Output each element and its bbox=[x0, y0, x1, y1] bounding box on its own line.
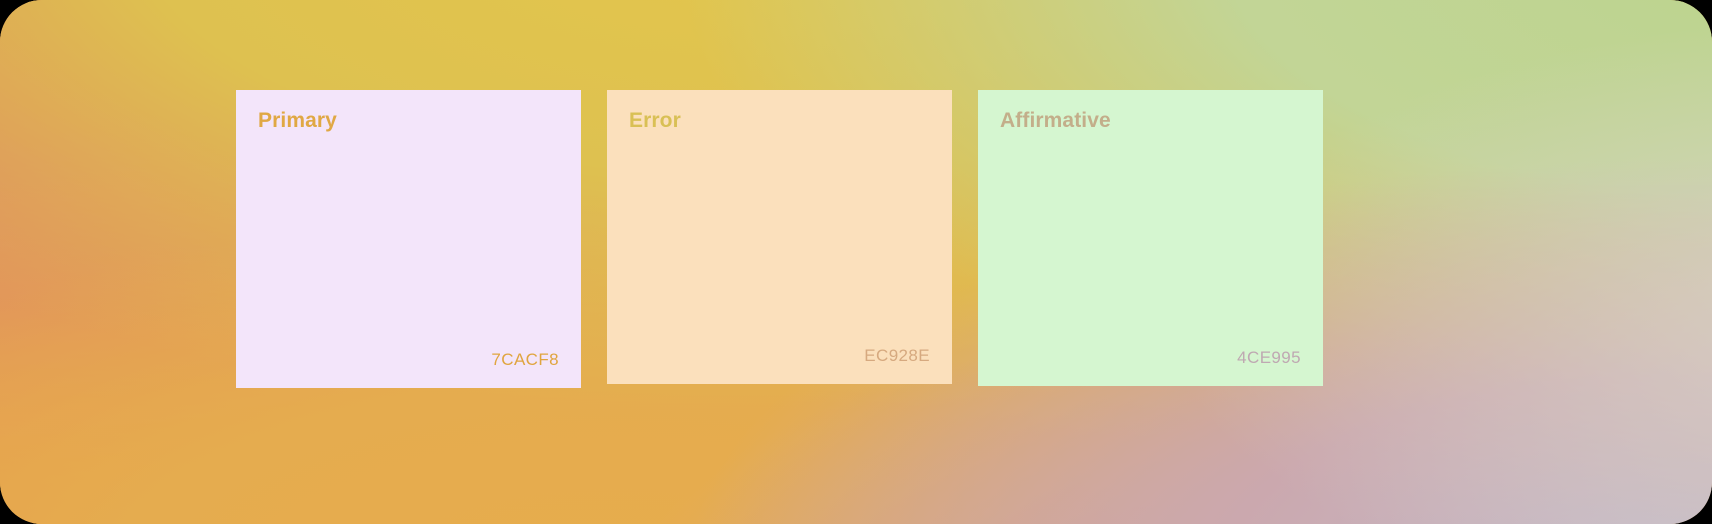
swatch-hex-value: 7CACF8 bbox=[491, 351, 559, 368]
swatch-row: Primary 7CACF8 Error EC928E Affirmative … bbox=[236, 90, 1323, 388]
swatch-card-primary[interactable]: Primary 7CACF8 bbox=[236, 90, 581, 388]
swatch-title: Affirmative bbox=[1000, 110, 1301, 131]
swatch-card-affirmative[interactable]: Affirmative 4CE995 bbox=[978, 90, 1323, 386]
palette-canvas: Primary 7CACF8 Error EC928E Affirmative … bbox=[0, 0, 1712, 524]
swatch-card-error[interactable]: Error EC928E bbox=[607, 90, 952, 384]
swatch-title: Primary bbox=[258, 110, 559, 131]
swatch-title: Error bbox=[629, 110, 930, 131]
swatch-hex-value: 4CE995 bbox=[1237, 349, 1301, 366]
swatch-hex-value: EC928E bbox=[864, 347, 930, 364]
